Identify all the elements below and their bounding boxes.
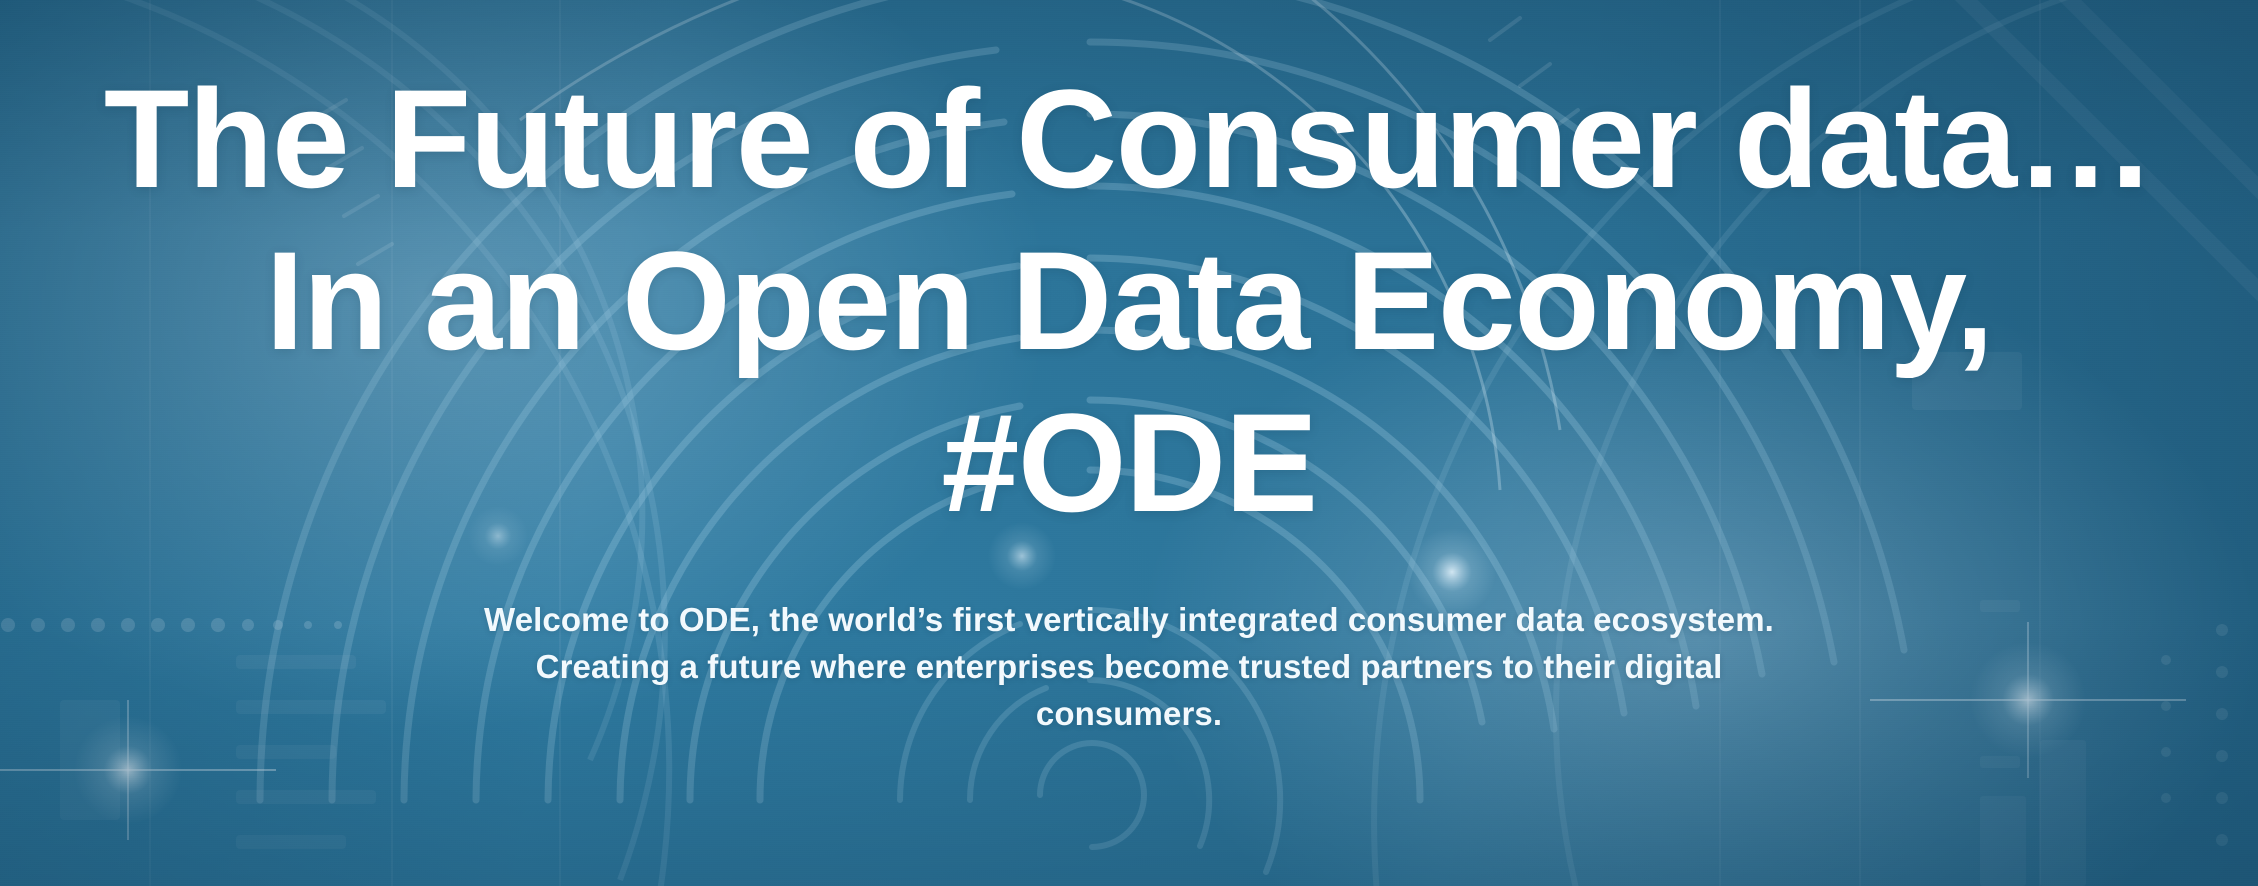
hero-content: The Future of Consumer data… In an Open … — [0, 0, 2258, 886]
subtitle-line-2: Creating a future where enterprises beco… — [479, 643, 1779, 690]
headline-line-1: The Future of Consumer data… — [0, 58, 2258, 220]
hero-banner: The Future of Consumer data… In an Open … — [0, 0, 2258, 886]
headline-line-3: #ODE — [0, 382, 2258, 544]
hero-subtitle: Welcome to ODE, the world’s first vertic… — [479, 544, 1779, 737]
subtitle-line-3: consumers. — [479, 690, 1779, 737]
subtitle-line-1: Welcome to ODE, the world’s first vertic… — [479, 596, 1779, 643]
page-title: The Future of Consumer data… In an Open … — [0, 0, 2258, 544]
headline-line-2: In an Open Data Economy, — [0, 220, 2258, 382]
